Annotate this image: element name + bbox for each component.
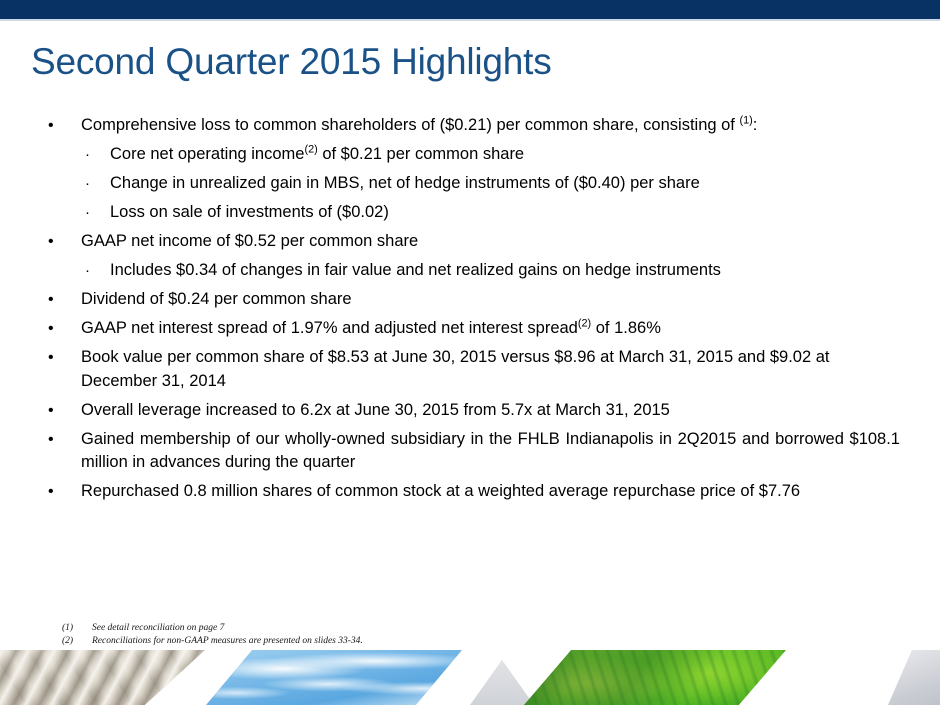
bullet-list: •Comprehensive loss to common shareholde…: [0, 114, 940, 509]
bullet-dot-icon: •: [48, 288, 54, 312]
footnote-reference: (2): [304, 144, 317, 156]
gray-triangle-shape: [470, 650, 534, 705]
bullet-middot-icon: ·: [85, 259, 90, 283]
footnote-number: (1): [62, 622, 92, 635]
bullet-text-main: Gained membership of our wholly-owned su…: [81, 430, 900, 472]
footnote-list: (1)See detail reconciliation on page 7(2…: [62, 622, 363, 647]
gray-corner-shape: [888, 650, 940, 705]
bullet-text: Comprehensive loss to common shareholder…: [81, 116, 757, 134]
footnote-number: (2): [62, 635, 92, 648]
bullet-item-level2: ·Core net operating income(2) of $0.21 p…: [0, 143, 940, 167]
bullet-dot-icon: •: [48, 428, 54, 452]
bullet-text: Loss on sale of investments of ($0.02): [110, 203, 389, 221]
bullet-item-level1: •GAAP net income of $0.52 per common sha…: [0, 230, 940, 254]
footnote-reference: (1): [739, 115, 752, 127]
bullet-text: Dividend of $0.24 per common share: [81, 290, 352, 308]
bullet-text-tail: of $0.21 per common share: [318, 145, 524, 163]
bullet-text: Book value per common share of $8.53 at …: [81, 348, 830, 390]
bullet-item-level1: •Overall leverage increased to 6.2x at J…: [0, 399, 940, 423]
footnote-text: See detail reconciliation on page 7: [92, 623, 224, 633]
bullet-text-main: Overall leverage increased to 6.2x at Ju…: [81, 401, 670, 419]
bullet-item-level1: •Repurchased 0.8 million shares of commo…: [0, 480, 940, 504]
bullet-text: GAAP net income of $0.52 per common shar…: [81, 232, 418, 250]
bullet-item-level1: •Dividend of $0.24 per common share: [0, 288, 940, 312]
header-rule: [0, 19, 940, 21]
footnote-item: (1)See detail reconciliation on page 7: [62, 622, 363, 635]
bullet-text: Change in unrealized gain in MBS, net of…: [110, 174, 700, 192]
page-title: Second Quarter 2015 Highlights: [31, 40, 552, 84]
footer-decoration-band: [0, 650, 940, 705]
bullet-dot-icon: •: [48, 346, 54, 370]
bullet-dot-icon: •: [48, 114, 54, 138]
bullet-text-main: Core net operating income: [110, 145, 304, 163]
bullet-text: Overall leverage increased to 6.2x at Ju…: [81, 401, 670, 419]
bullet-item-level1: •Gained membership of our wholly-owned s…: [0, 428, 940, 475]
bullet-text-tail: :: [753, 116, 758, 134]
bullet-text-main: Loss on sale of investments of ($0.02): [110, 203, 389, 221]
bullet-item-level2: ·Loss on sale of investments of ($0.02): [0, 201, 940, 225]
bullet-text-main: Book value per common share of $8.53 at …: [81, 348, 830, 390]
leaf-image-panel: [524, 650, 786, 705]
bullet-text-main: Comprehensive loss to common shareholder…: [81, 116, 739, 134]
bullet-text-main: Change in unrealized gain in MBS, net of…: [110, 174, 700, 192]
bullet-item-level1: •GAAP net interest spread of 1.97% and a…: [0, 317, 940, 341]
bullet-text: Repurchased 0.8 million shares of common…: [81, 480, 900, 504]
bullet-item-level2: ·Change in unrealized gain in MBS, net o…: [0, 172, 940, 196]
bullet-middot-icon: ·: [85, 143, 90, 167]
bullet-dot-icon: •: [48, 230, 54, 254]
bullet-text-main: Dividend of $0.24 per common share: [81, 290, 352, 308]
bullet-dot-icon: •: [48, 317, 54, 341]
sky-image-panel: [206, 650, 462, 705]
bullet-middot-icon: ·: [85, 201, 90, 225]
footnote-text: Reconciliations for non-GAAP measures ar…: [92, 636, 363, 646]
bullet-item-level1: •Comprehensive loss to common shareholde…: [0, 114, 940, 138]
bullet-text: Core net operating income(2) of $0.21 pe…: [110, 145, 524, 163]
bullet-text-main: GAAP net income of $0.52 per common shar…: [81, 232, 418, 250]
bullet-text-main: Repurchased 0.8 million shares of common…: [81, 482, 800, 500]
footnote-item: (2)Reconciliations for non-GAAP measures…: [62, 635, 363, 648]
bullet-text: Includes $0.34 of changes in fair value …: [110, 261, 721, 279]
bullet-middot-icon: ·: [85, 172, 90, 196]
slide-canvas: Second Quarter 2015 Highlights •Comprehe…: [0, 0, 940, 705]
bullet-text: Gained membership of our wholly-owned su…: [81, 428, 900, 475]
bullet-item-level1: •Book value per common share of $8.53 at…: [0, 346, 940, 393]
bullet-dot-icon: •: [48, 399, 54, 423]
bullet-text-main: GAAP net interest spread of 1.97% and ad…: [81, 319, 578, 337]
bullet-text: GAAP net interest spread of 1.97% and ad…: [81, 319, 661, 337]
bullet-item-level2: ·Includes $0.34 of changes in fair value…: [0, 259, 940, 283]
bullet-dot-icon: •: [48, 480, 54, 504]
footnote-reference: (2): [578, 318, 591, 330]
bullet-text-main: Includes $0.34 of changes in fair value …: [110, 261, 721, 279]
rope-image-panel: [0, 650, 205, 705]
bullet-text-tail: of 1.86%: [591, 319, 661, 337]
header-band: [0, 0, 940, 19]
